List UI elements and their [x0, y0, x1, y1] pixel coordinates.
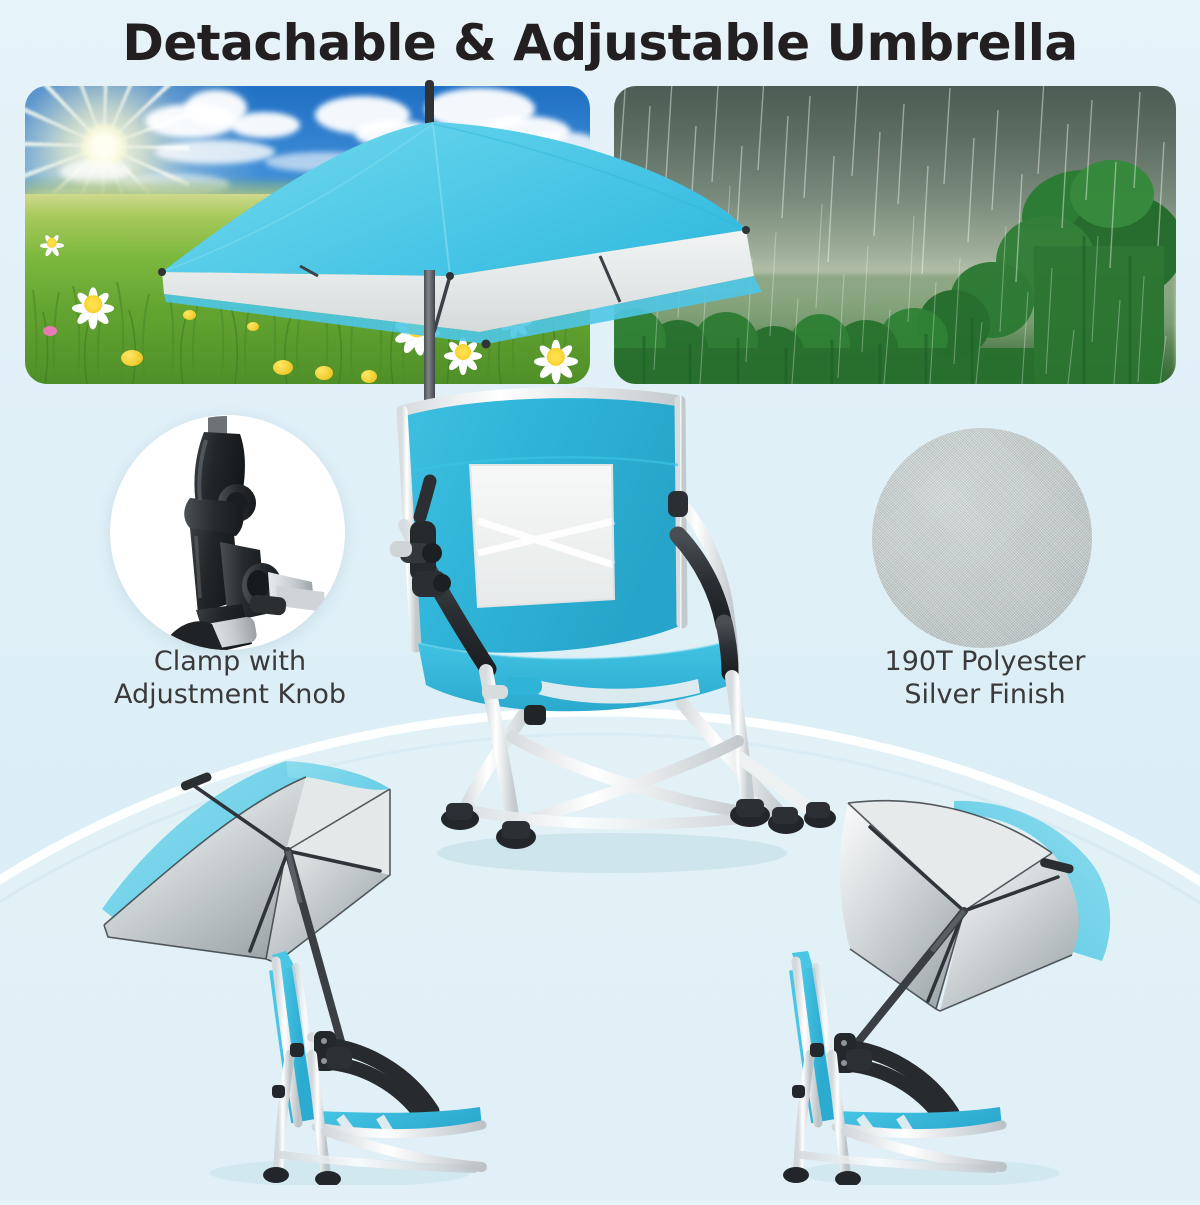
seat-corner-trim	[504, 677, 542, 695]
seat-lock	[524, 705, 546, 725]
frame-joint	[810, 1043, 824, 1057]
frame-joint	[792, 1085, 805, 1098]
umbrella-clamp-mount	[326, 1047, 352, 1069]
hero-umbrella	[150, 80, 770, 425]
yellow-bud	[121, 350, 143, 366]
silver-fabric-swatch	[872, 428, 1092, 648]
daisy-flower	[39, 230, 65, 256]
clamp-caption-line1: Clamp with	[40, 645, 420, 678]
hero-chair-leg-overlap	[740, 752, 880, 862]
chair-foot	[783, 1167, 809, 1183]
umbrella-tip	[482, 340, 491, 349]
umbrella-tip	[446, 272, 454, 280]
fabric-caption-line1: 190T Polyester	[830, 645, 1140, 678]
armrest-pad	[724, 623, 730, 673]
chair-foot	[263, 1167, 289, 1183]
umbrella-clamp-mount	[846, 1049, 872, 1071]
umbrella-tip	[742, 226, 750, 234]
daisy-flower	[71, 282, 115, 326]
poster-stage: Detachable & Adjustable Umbrella	[0, 0, 1200, 1200]
beach-chair-umbrella-left	[90, 755, 520, 1185]
pink-bud	[43, 326, 57, 336]
frame-joint	[272, 1085, 285, 1098]
seat-corner-trim	[482, 685, 508, 699]
frame-joint	[290, 1043, 304, 1057]
page-title: Detachable & Adjustable Umbrella	[0, 14, 1200, 72]
umbrella-tip	[158, 268, 166, 276]
arm-joint	[668, 491, 688, 517]
